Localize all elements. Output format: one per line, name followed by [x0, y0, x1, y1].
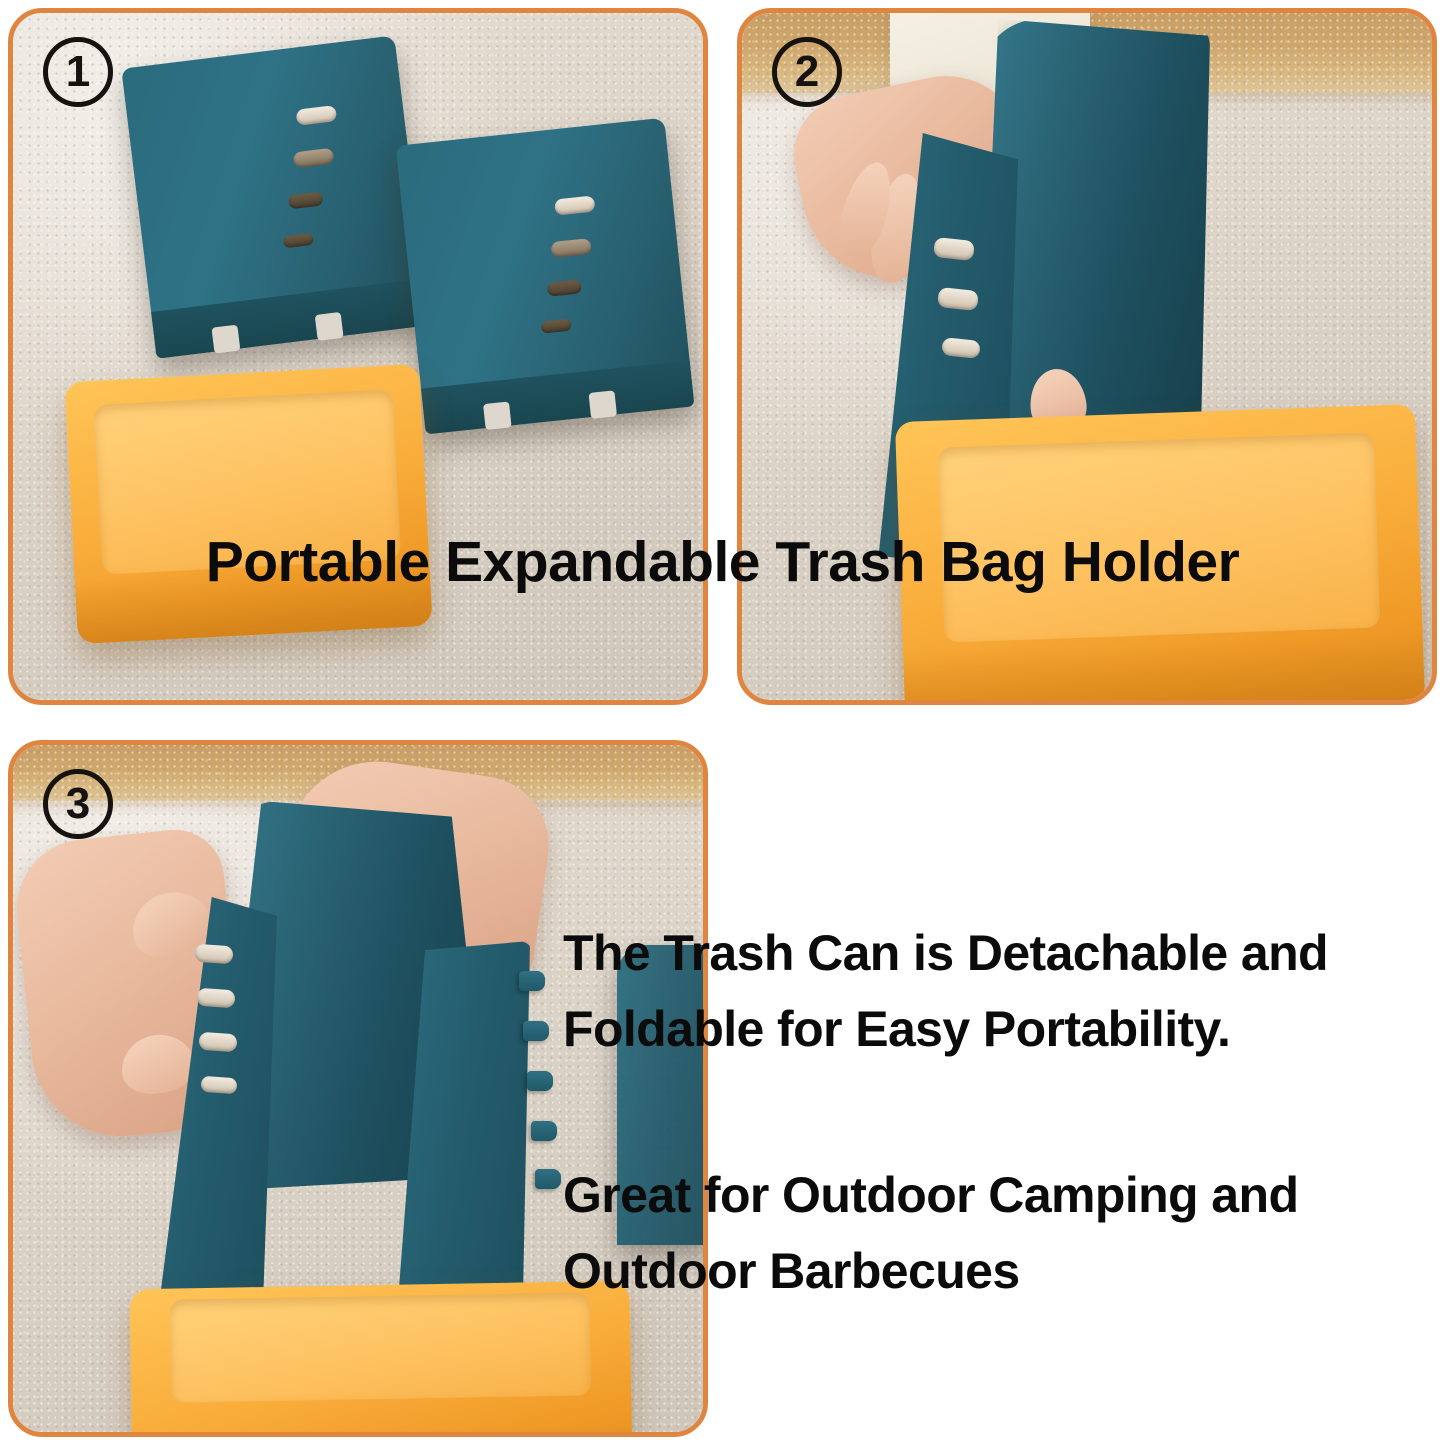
mount-slot: [293, 148, 335, 169]
panel-disassembled-parts: 1: [8, 8, 708, 705]
mount-hook: [523, 1021, 549, 1041]
mount-slot: [283, 233, 314, 249]
mount-hook: [531, 1121, 557, 1141]
orange-base-tray: [64, 364, 432, 644]
feature-text-line: Great for Outdoor Camping and: [563, 1157, 1443, 1233]
mount-slot: [933, 237, 975, 261]
panel-notch: [211, 325, 240, 354]
feature-text-line: Foldable for Easy Portability.: [563, 991, 1443, 1067]
mount-hook: [535, 1169, 561, 1189]
mount-slot: [541, 319, 572, 334]
feature-text-outdoor: Great for Outdoor Camping and Outdoor Ba…: [563, 1157, 1443, 1309]
step-number-badge-1: 1: [43, 37, 113, 107]
feature-text-line: Outdoor Barbecues: [563, 1233, 1443, 1309]
tray-rim-shadow: [903, 632, 1425, 705]
step-number-badge-3: 3: [43, 769, 113, 839]
mount-slot: [288, 191, 323, 209]
teal-side-panel-left: [121, 35, 430, 358]
step-number-badge-2: 2: [772, 37, 842, 107]
panel-notch: [315, 312, 344, 341]
panel-notch: [588, 390, 617, 419]
mount-slot: [551, 238, 592, 258]
mount-slot: [296, 105, 338, 126]
main-title: Portable Expandable Trash Bag Holder: [0, 534, 1445, 591]
mount-slot: [554, 195, 595, 215]
tray-rim-shadow: [132, 1425, 633, 1437]
mount-slot: [194, 944, 233, 965]
panel-attaching-panel: 2: [737, 8, 1437, 705]
tray-interior: [170, 1293, 592, 1403]
mount-slot: [198, 1032, 237, 1053]
mount-slot: [547, 279, 582, 296]
panel-assembled-holder: 3: [8, 740, 708, 1437]
teal-side-panel-right: [396, 118, 695, 435]
feature-text-detachable: The Trash Can is Detachable and Foldable…: [563, 915, 1443, 1067]
feature-text-line: The Trash Can is Detachable and: [563, 915, 1443, 991]
mount-hook: [527, 1071, 553, 1091]
mount-hook: [519, 971, 545, 991]
mount-slot: [196, 988, 235, 1009]
mount-slot: [937, 287, 979, 311]
mount-slot: [200, 1076, 237, 1094]
orange-base-tray: [129, 1281, 632, 1437]
product-infographic: 1 2: [0, 0, 1445, 1445]
panel-notch: [483, 401, 512, 430]
